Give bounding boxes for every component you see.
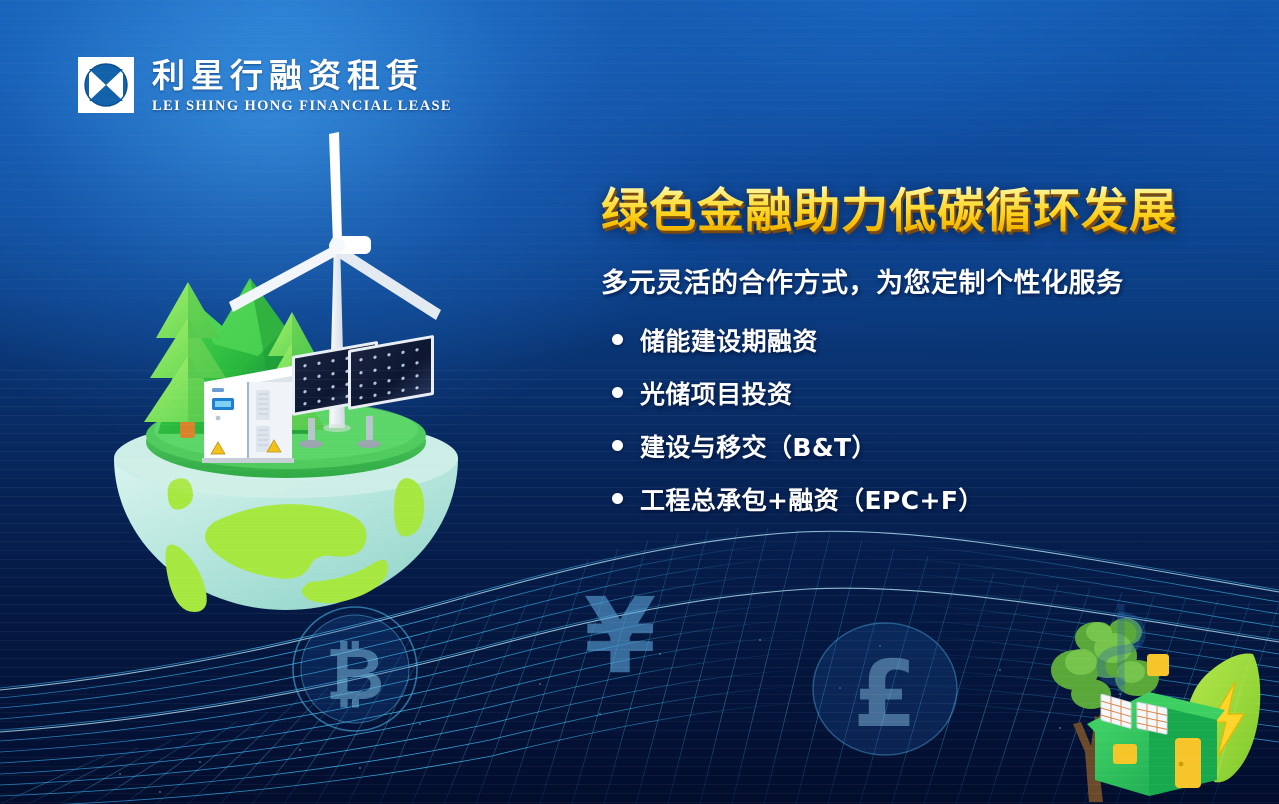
yuan-symbol-icon: ¥ — [560, 574, 680, 704]
brand-name-en: LEI SHING HONG FINANCIAL LEASE — [152, 98, 452, 115]
hero-copy: 绿色金融助力低碳循环发展 多元灵活的合作方式，为您定制个性化服务 储能建设期融资… — [601, 186, 1241, 534]
bottom-right-eco-art — [1029, 574, 1279, 804]
lei-shing-hong-circle-x-logo — [78, 57, 134, 113]
list-item: 建设与移交（B&T） — [601, 428, 1241, 464]
list-item: 光储项目投资 — [601, 375, 1241, 411]
page-title: 绿色金融助力低碳循环发展 — [601, 186, 1241, 239]
pound-coin-icon: £ — [800, 604, 970, 774]
list-item: 工程总承包+融资（EPC+F） — [601, 481, 1241, 517]
green-energy-globe-scene — [96, 130, 476, 650]
brand-logo[interactable]: 利星行融资租赁 LEI SHING HONG FINANCIAL LEASE — [78, 57, 452, 115]
list-item-label: 工程总承包+融资（EPC+F） — [640, 481, 984, 517]
page-subtitle: 多元灵活的合作方式，为您定制个性化服务 — [601, 261, 1241, 300]
battery-storage-cabinet-icon — [202, 366, 294, 463]
list-item-label: 储能建设期融资 — [640, 322, 818, 358]
service-list: 储能建设期融资 光储项目投资 建设与移交（B&T） 工程总承包+融资（EPC+F… — [601, 322, 1241, 517]
bullet-dot-icon — [612, 334, 623, 345]
svg-text:£: £ — [853, 641, 917, 748]
bullet-dot-icon — [612, 493, 623, 504]
list-item-label: 光储项目投资 — [640, 375, 792, 411]
list-item: 储能建设期融资 — [601, 322, 1241, 358]
bullet-dot-icon — [612, 387, 623, 398]
brand-name-cn: 利星行融资租赁 — [152, 57, 452, 96]
bullet-dot-icon — [612, 440, 623, 451]
list-item-label: 建设与移交（B&T） — [640, 428, 877, 464]
promo-banner: ₿ ¥ £ 利星行融资租赁 LEI SHING HONG FINANCIAL L… — [0, 0, 1279, 804]
svg-text:¥: ¥ — [584, 575, 656, 697]
